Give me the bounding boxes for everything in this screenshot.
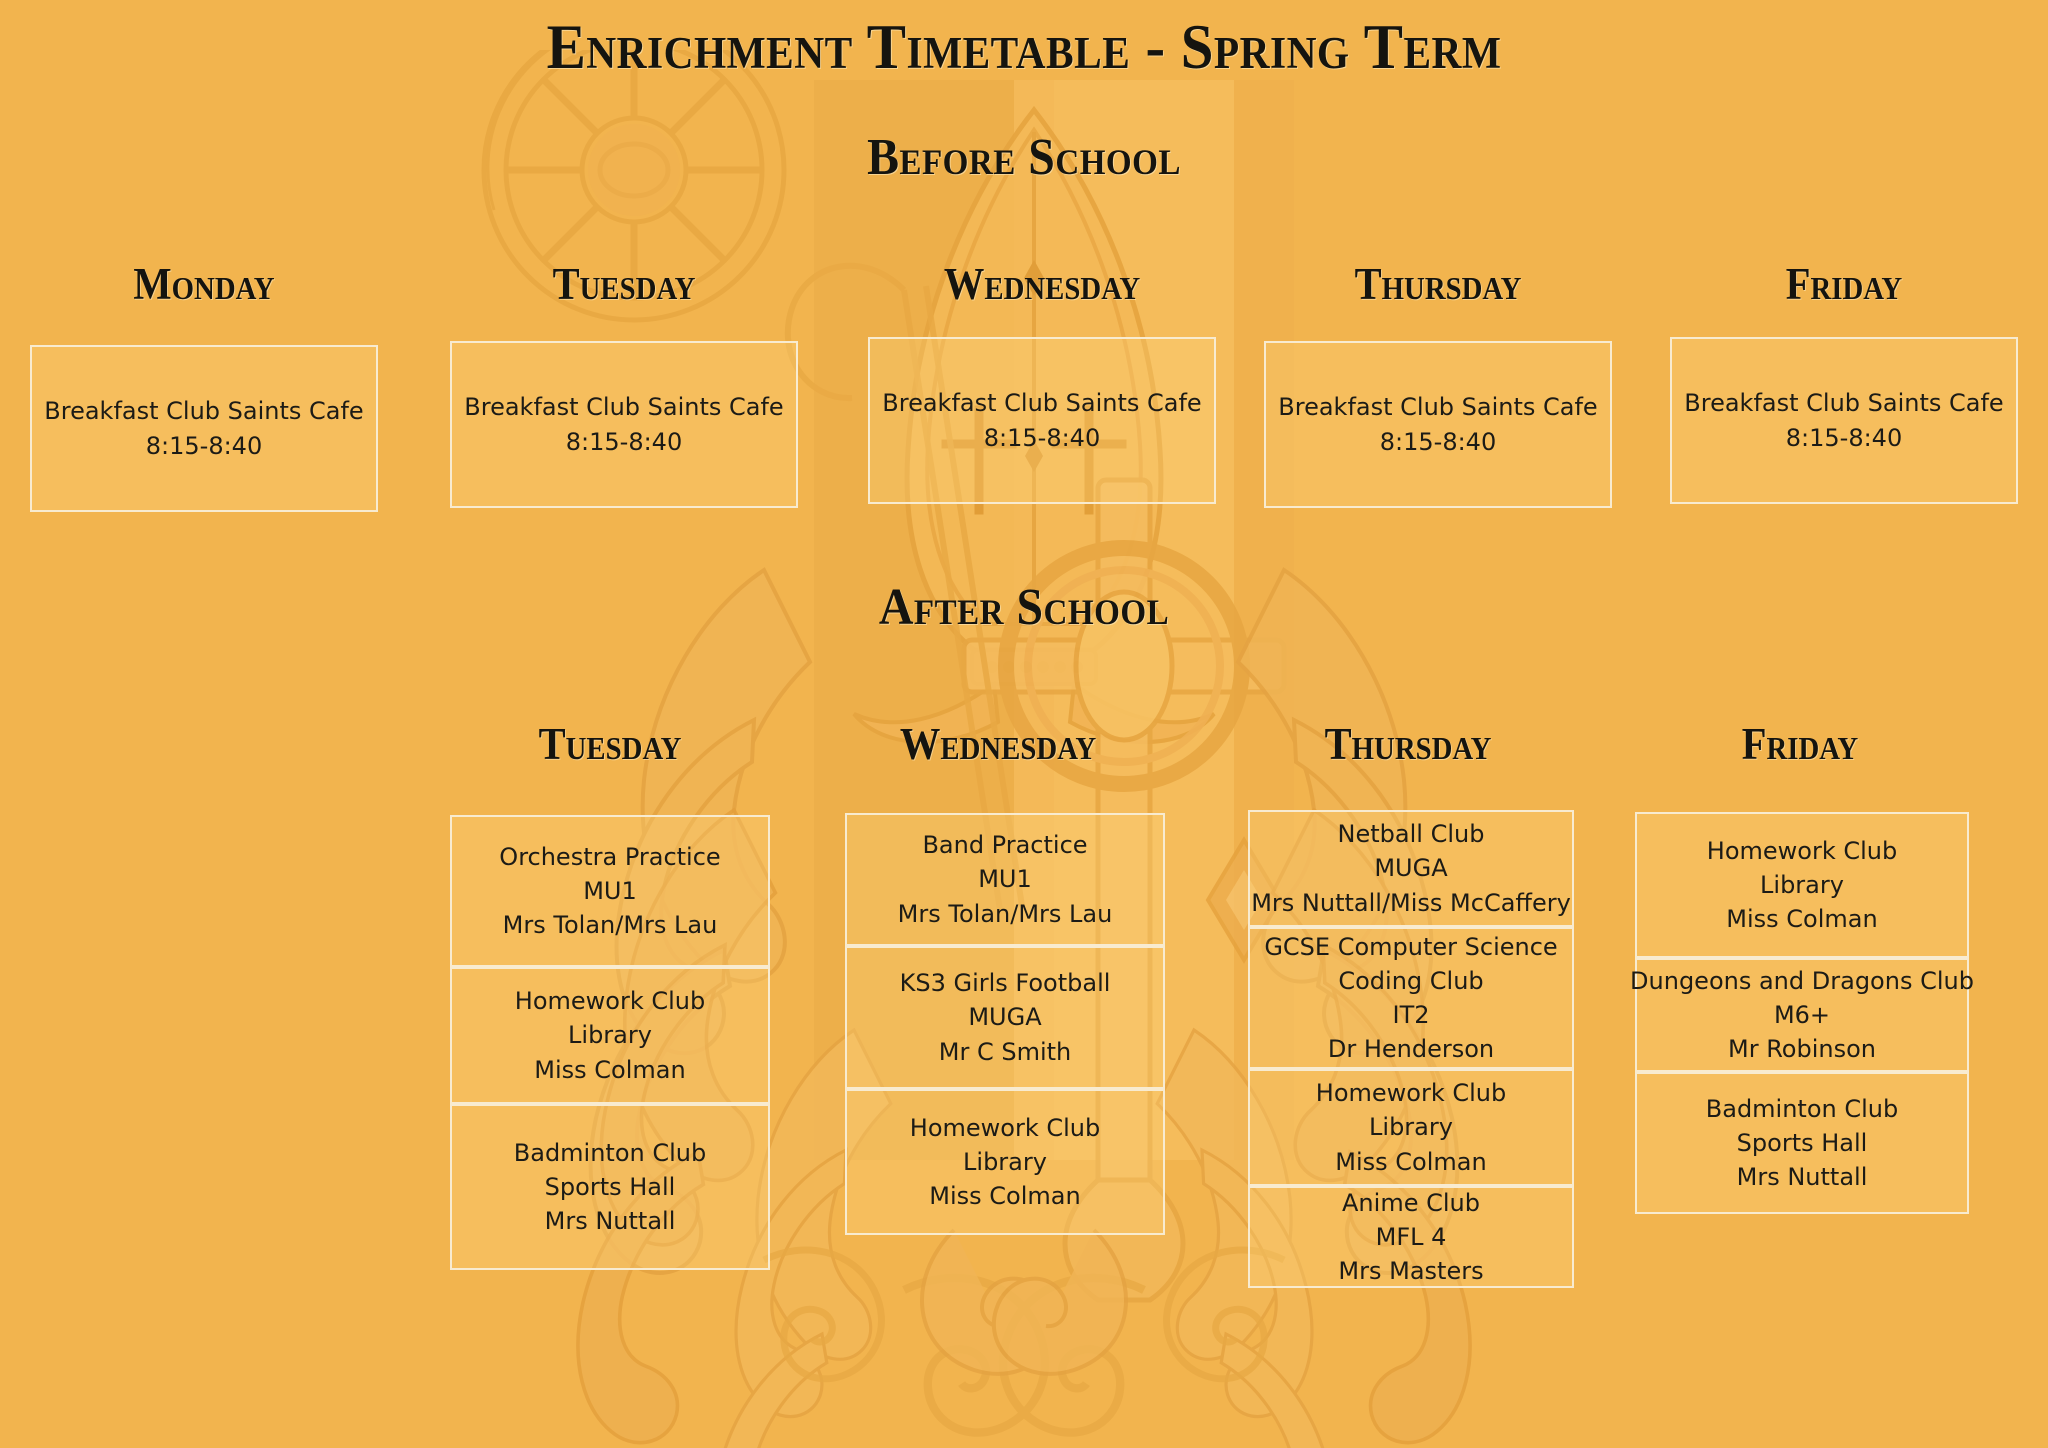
page-title: Enrichment Timetable - Spring Term (82, 10, 1966, 84)
after-cell-thursday-4[interactable]: Anime Club MFL 4 Mrs Masters (1248, 1186, 1574, 1288)
cell-line: Library (963, 1145, 1047, 1179)
cell-line: Breakfast Club Saints Cafe (882, 386, 1201, 420)
after-cell-friday-1[interactable]: Homework Club Library Miss Colman (1635, 812, 1969, 958)
cell-line: Mrs Tolan/Mrs Lau (898, 897, 1113, 931)
cell-line: Homework Club (910, 1111, 1100, 1145)
before-cell-monday[interactable]: Breakfast Club Saints Cafe 8:15-8:40 (30, 345, 378, 512)
cell-line: Badminton Club (1706, 1092, 1898, 1126)
cell-line: Miss Colman (534, 1053, 685, 1087)
cell-line: Breakfast Club Saints Cafe (464, 390, 783, 424)
before-school-heading: Before School (82, 128, 1966, 187)
before-day-header-friday: Friday (1687, 258, 2000, 310)
cell-line: Sports Hall (1737, 1126, 1868, 1160)
cell-line: MUGA (968, 1000, 1041, 1034)
cell-line: 8:15-8:40 (566, 425, 682, 459)
after-cell-wednesday-1[interactable]: Band Practice MU1 Mrs Tolan/Mrs Lau (845, 813, 1165, 946)
before-day-header-wednesday: Wednesday (885, 258, 1198, 310)
after-cell-thursday-2[interactable]: GCSE Computer Science Coding Club IT2 Dr… (1248, 927, 1574, 1069)
cell-line: 8:15-8:40 (1786, 421, 1902, 455)
cell-line: Dungeons and Dragons Club (1630, 964, 1974, 998)
cell-line: Netball Club (1338, 817, 1485, 851)
after-day-header-tuesday: Tuesday (466, 718, 754, 770)
before-day-header-monday: Monday (47, 258, 360, 310)
after-cell-friday-2[interactable]: Dungeons and Dragons Club M6+ Mr Robinso… (1635, 958, 1969, 1072)
cell-line: Mr Robinson (1728, 1032, 1876, 1066)
after-school-heading: After School (82, 578, 1966, 637)
cell-line: Orchestra Practice (499, 840, 720, 874)
cell-line: MU1 (978, 862, 1032, 896)
after-cell-thursday-1[interactable]: Netball Club MUGA Mrs Nuttall/Miss McCaf… (1248, 810, 1574, 927)
cell-line: Library (1369, 1110, 1453, 1144)
cell-line: Mrs Masters (1338, 1254, 1483, 1288)
after-day-header-thursday: Thursday (1264, 718, 1552, 770)
cell-line: IT2 (1392, 998, 1429, 1032)
cell-line: Dr Henderson (1328, 1032, 1494, 1066)
after-cell-tuesday-1[interactable]: Orchestra Practice MU1 Mrs Tolan/Mrs Lau (450, 815, 770, 967)
cell-line: MUGA (1374, 851, 1447, 885)
before-cell-friday[interactable]: Breakfast Club Saints Cafe 8:15-8:40 (1670, 337, 2018, 504)
cell-line: Library (568, 1018, 652, 1052)
after-cell-wednesday-3[interactable]: Homework Club Library Miss Colman (845, 1089, 1165, 1235)
after-cell-wednesday-2[interactable]: KS3 Girls Football MUGA Mr C Smith (845, 946, 1165, 1089)
cell-line: Breakfast Club Saints Cafe (1684, 386, 2003, 420)
after-day-header-friday: Friday (1656, 718, 1944, 770)
after-cell-tuesday-2[interactable]: Homework Club Library Miss Colman (450, 967, 770, 1104)
timetable-poster: Enrichment Timetable - Spring Term Befor… (0, 0, 2048, 1448)
after-cell-friday-3[interactable]: Badminton Club Sports Hall Mrs Nuttall (1635, 1072, 1969, 1214)
cell-line: Homework Club (515, 984, 705, 1018)
before-cell-thursday[interactable]: Breakfast Club Saints Cafe 8:15-8:40 (1264, 341, 1612, 508)
cell-line: KS3 Girls Football (900, 966, 1111, 1000)
after-cell-tuesday-3[interactable]: Badminton Club Sports Hall Mrs Nuttall (450, 1104, 770, 1270)
cell-line: Mrs Tolan/Mrs Lau (503, 908, 718, 942)
cell-line: Miss Colman (1335, 1145, 1486, 1179)
after-cell-thursday-3[interactable]: Homework Club Library Miss Colman (1248, 1069, 1574, 1186)
cell-line: Badminton Club (514, 1136, 706, 1170)
cell-line: Breakfast Club Saints Cafe (44, 394, 363, 428)
cell-line: MU1 (583, 874, 637, 908)
cell-line: GCSE Computer Science (1264, 930, 1557, 964)
cell-line: 8:15-8:40 (984, 421, 1100, 455)
cell-line: Mrs Nuttall/Miss McCaffery (1251, 886, 1571, 920)
cell-line: Mr C Smith (939, 1035, 1072, 1069)
before-day-header-thursday: Thursday (1281, 258, 1594, 310)
cell-line: Homework Club (1707, 834, 1897, 868)
cell-line: Sports Hall (545, 1170, 676, 1204)
after-day-header-wednesday: Wednesday (854, 718, 1142, 770)
cell-line: Miss Colman (929, 1179, 1080, 1213)
cell-line: Breakfast Club Saints Cafe (1278, 390, 1597, 424)
before-day-header-tuesday: Tuesday (467, 258, 780, 310)
cell-line: Library (1760, 868, 1844, 902)
cell-line: Band Practice (922, 828, 1087, 862)
cell-line: Homework Club (1316, 1076, 1506, 1110)
cell-line: Anime Club (1342, 1186, 1480, 1220)
before-cell-tuesday[interactable]: Breakfast Club Saints Cafe 8:15-8:40 (450, 341, 798, 508)
cell-line: 8:15-8:40 (146, 429, 262, 463)
cell-line: MFL 4 (1376, 1220, 1447, 1254)
cell-line: Mrs Nuttall (1737, 1160, 1868, 1194)
cell-line: Coding Club (1338, 964, 1483, 998)
cell-line: M6+ (1774, 998, 1830, 1032)
cell-line: Miss Colman (1726, 902, 1877, 936)
cell-line: 8:15-8:40 (1380, 425, 1496, 459)
cell-line: Mrs Nuttall (545, 1204, 676, 1238)
before-cell-wednesday[interactable]: Breakfast Club Saints Cafe 8:15-8:40 (868, 337, 1216, 504)
